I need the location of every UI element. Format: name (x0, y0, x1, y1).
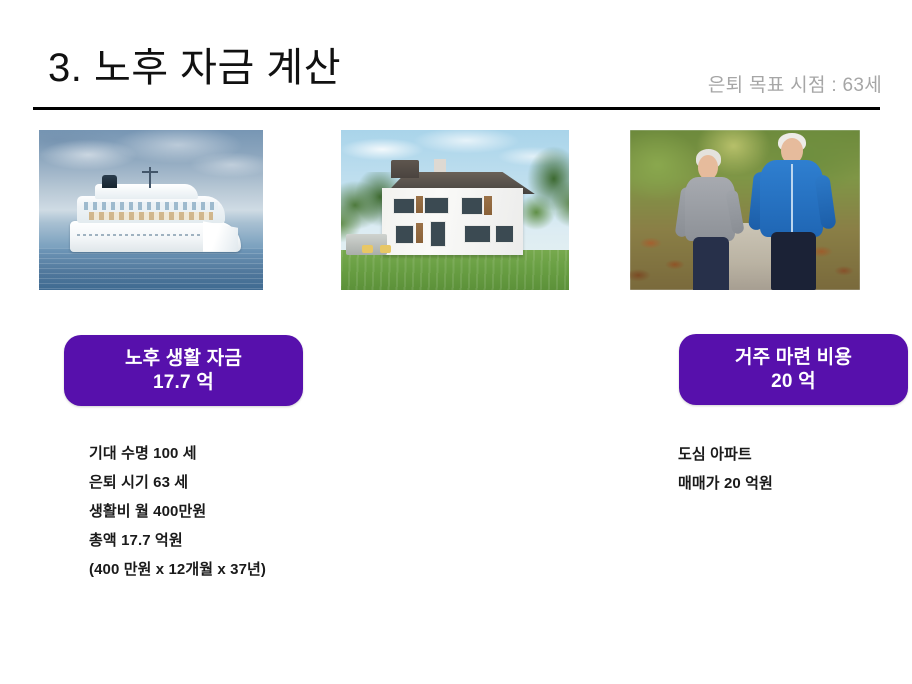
cruise-ship-photo (39, 130, 263, 290)
badge-amount: 17.7 억 (153, 371, 214, 394)
title-divider (33, 107, 880, 110)
door (430, 221, 446, 247)
window (461, 197, 483, 215)
legs (771, 232, 816, 290)
window (393, 198, 415, 213)
house-facade (382, 188, 523, 255)
ship-mast (149, 167, 151, 188)
window (424, 197, 449, 214)
detail-line: 매매가 20 억원 (678, 472, 773, 493)
jacket-zipper (791, 164, 793, 234)
lounge-chair (380, 245, 391, 253)
badge-amount: 20 억 (771, 370, 816, 393)
badge-title: 노후 생활 자금 (125, 347, 242, 370)
content-columns: 노후 생활 자금 17.7 억 기대 수명 100 세 은퇴 시기 63 세 생… (0, 130, 912, 630)
house-chimney (434, 159, 445, 172)
column-retirement-living: 노후 생활 자금 17.7 억 기대 수명 100 세 은퇴 시기 63 세 생… (33, 130, 273, 290)
window (464, 225, 491, 243)
detail-line: 생활비 월 400만원 (89, 500, 266, 521)
wood-panel (416, 223, 423, 243)
ship-decks (77, 196, 225, 223)
lounge-chair (362, 245, 373, 253)
badge-housing-cost: 거주 마련 비용 20 억 (679, 334, 908, 405)
page-title: 3. 노후 자금 계산 (48, 48, 341, 88)
detail-line: 기대 수명 100 세 (89, 442, 266, 463)
detail-line: (400 만원 x 12개월 x 37년) (89, 558, 266, 579)
badge-title: 거주 마련 비용 (735, 346, 852, 369)
slide-header: 3. 노후 자금 계산 은퇴 목표 시점 : 63세 (0, 0, 912, 115)
wood-panel (484, 196, 492, 215)
details-housing-cost: 도심 아파트 매매가 20 억원 (678, 443, 773, 501)
column-leisure-health: 여가/건강생활 11.1 억 취미 생활 연 500 만원 여행 연 2000 … (626, 130, 862, 290)
house-photo (341, 130, 569, 290)
senior-couple-jogging-photo (630, 130, 860, 290)
legs (693, 237, 729, 290)
details-retirement-living: 기대 수명 100 세 은퇴 시기 63 세 생활비 월 400만원 총액 17… (89, 442, 266, 587)
retirement-target-note: 은퇴 목표 시점 : 63세 (708, 70, 882, 97)
senior-man (750, 130, 837, 290)
lawn (341, 250, 569, 290)
badge-retirement-living: 노후 생활 자금 17.7 억 (64, 335, 303, 406)
ship-funnel (102, 175, 118, 188)
detail-line: 도심 아파트 (678, 443, 773, 464)
head (698, 155, 718, 180)
senior-woman (671, 143, 749, 290)
sea-water (39, 248, 263, 290)
wood-panel (416, 196, 423, 213)
window (395, 225, 414, 244)
detail-line: 총액 17.7 억원 (89, 529, 266, 550)
house-dormer (391, 160, 418, 178)
column-housing-cost: 거주 마련 비용 20 억 도심 아파트 매매가 20 억원 (338, 130, 574, 290)
detail-line: 은퇴 시기 63 세 (89, 471, 266, 492)
window (495, 225, 514, 243)
